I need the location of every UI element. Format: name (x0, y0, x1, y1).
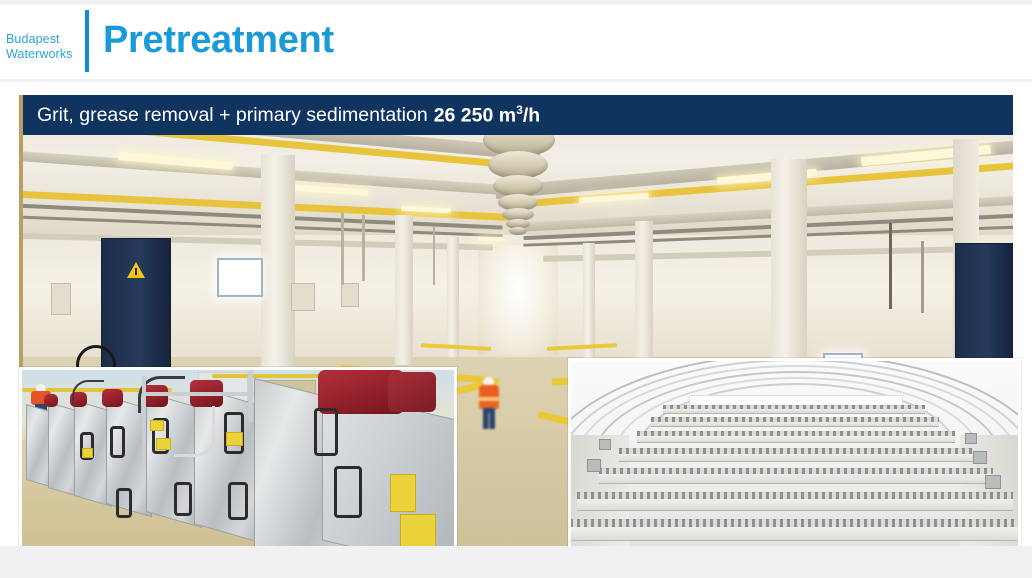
header-rule (0, 79, 1032, 82)
warning-triangle-icon (127, 262, 145, 278)
channel-teeth (599, 468, 993, 474)
support-column (261, 155, 295, 385)
background-railing (212, 374, 322, 378)
channel-teeth (651, 417, 939, 422)
platform-railing (142, 392, 254, 396)
wall-control-box (341, 283, 359, 307)
wall-bracket (599, 439, 611, 450)
platform-railing (248, 370, 253, 422)
motion-blur (475, 375, 503, 431)
support-column (395, 215, 413, 365)
drop-pipe (433, 227, 435, 285)
drop-pipe (889, 223, 892, 309)
page-bottom-strip (0, 546, 1032, 578)
warning-label (226, 432, 243, 446)
platform-railing (142, 376, 146, 464)
warning-label (390, 474, 416, 512)
logo-line-1: Budapest (6, 32, 80, 47)
wall-control-box (291, 283, 315, 311)
support-column (583, 243, 595, 361)
conduit-hose (72, 380, 104, 404)
drive-motor (102, 389, 123, 407)
ceiling-lamp-far (478, 237, 504, 241)
wall-control-box (51, 283, 71, 315)
wall-bracket (985, 475, 1001, 489)
caption-main-text: Grit, grease removal + primary sedimenta… (37, 104, 428, 127)
drop-pipe (341, 213, 344, 285)
header-divider (85, 10, 89, 72)
wall-bracket (973, 451, 987, 464)
drop-pipe (362, 215, 365, 281)
channel-teeth (577, 492, 1013, 499)
worker-figure (478, 377, 500, 429)
budapest-waterworks-logo: Budapest Waterworks (6, 32, 80, 62)
logo-line-2: Waterworks (6, 47, 80, 62)
caption-primary-sedimentation: Grit, grease removal + primary sedimenta… (23, 95, 1013, 135)
photo-stage: Grit, grease removal + primary sedimenta… (19, 95, 1015, 546)
wall-bracket (965, 433, 977, 444)
storm-water-photo: Storm water treatment 11 250 m3/h (568, 358, 1021, 552)
drop-pipe (921, 241, 924, 313)
grab-handle (334, 466, 362, 518)
warning-label (156, 438, 171, 450)
warning-label (150, 420, 164, 431)
grab-handle (116, 488, 132, 518)
grab-handle (174, 482, 192, 516)
warning-label (400, 514, 436, 548)
channel-teeth (637, 431, 955, 436)
channel-teeth (663, 405, 925, 409)
support-column (447, 237, 459, 357)
grab-handle (110, 426, 125, 458)
grab-handle (228, 482, 248, 520)
finescreens-photo: Finescreens (3 mm) 37 500 m3/h (19, 367, 457, 552)
caption-main-value: 26 250 m3/h (434, 103, 540, 128)
support-column (635, 221, 653, 369)
drive-motor-front-cap (388, 372, 436, 412)
conduit-hose (174, 406, 215, 457)
drive-motor (44, 394, 58, 407)
grab-handle (314, 408, 338, 456)
interior-window (217, 258, 263, 297)
slide-header: Budapest Waterworks Pretreatment (0, 5, 1032, 82)
support-column (771, 159, 807, 391)
channel-teeth (619, 448, 973, 454)
page-title: Pretreatment (103, 19, 334, 62)
channel-teeth (568, 519, 1021, 527)
wall-bracket (587, 459, 601, 472)
ventilation-duct (509, 227, 527, 235)
warning-label (82, 448, 93, 458)
